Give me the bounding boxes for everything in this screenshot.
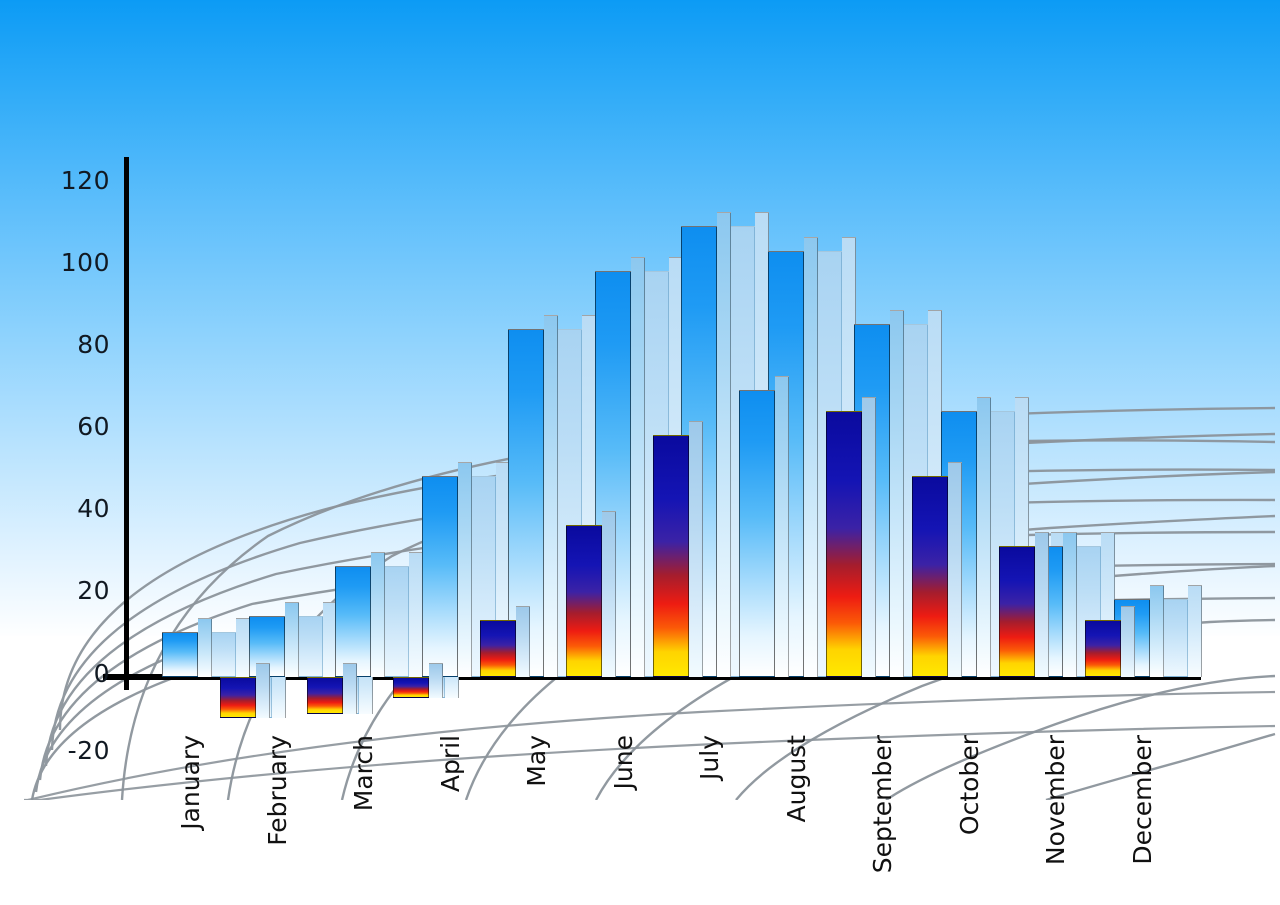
bar-side-face xyxy=(343,663,357,714)
bar-series2-august xyxy=(826,411,862,678)
bar-front-face xyxy=(162,632,198,677)
x-label-april: April xyxy=(436,735,465,792)
chart-canvas: 120 100 80 60 40 20 0 -20 JanuaryFebruar… xyxy=(0,0,1280,905)
bar-side-face xyxy=(775,376,789,677)
x-label-march: March xyxy=(349,735,378,811)
bar-front-face xyxy=(335,566,371,677)
bar-side-face xyxy=(1150,585,1164,677)
x-label-july: July xyxy=(695,735,724,780)
bar-series1-january xyxy=(162,632,198,677)
bar-series2-april xyxy=(480,620,516,677)
bar-front-face xyxy=(912,476,948,677)
bar-side-face xyxy=(516,606,530,677)
bar-series2-october xyxy=(999,546,1035,677)
plot-area: 120 100 80 60 40 20 0 -20 JanuaryFebruar… xyxy=(0,0,1280,905)
bar-side-face xyxy=(1063,532,1077,677)
bar-side-face xyxy=(890,310,904,677)
bar-series2-march xyxy=(393,677,429,698)
bar-series2-september xyxy=(912,476,948,677)
bar-side-face xyxy=(631,257,645,677)
bar-series2-may xyxy=(566,525,602,677)
x-label-may: May xyxy=(522,735,551,787)
bar-front-face xyxy=(826,411,862,678)
bar-front-face xyxy=(999,546,1035,677)
x-label-august: August xyxy=(782,735,811,823)
bar-side-face xyxy=(429,663,443,698)
bar-side-face xyxy=(1035,532,1049,677)
x-label-june: June xyxy=(609,735,638,789)
bar-side-face xyxy=(285,602,299,678)
bar-side-face xyxy=(948,462,962,677)
x-label-october: October xyxy=(955,735,984,835)
bar-side-face xyxy=(602,511,616,677)
bar-front-face xyxy=(739,390,775,677)
bar-side-face xyxy=(1121,606,1135,677)
bar-side-face xyxy=(977,397,991,678)
bar-side-face xyxy=(371,552,385,677)
bar-series1-march xyxy=(335,566,371,677)
bar-front-face xyxy=(307,677,343,714)
bar-series2-february xyxy=(307,677,343,714)
bar-front-face xyxy=(422,476,458,677)
bar-side-face xyxy=(544,315,558,678)
bar-front-face xyxy=(480,620,516,677)
bar-series1-april xyxy=(422,476,458,677)
x-label-february: February xyxy=(263,735,292,846)
bar-series2-july xyxy=(739,390,775,677)
x-label-september: September xyxy=(868,735,897,873)
bar-side-face xyxy=(862,397,876,678)
bar-side-face xyxy=(689,421,703,677)
x-label-november: November xyxy=(1041,735,1070,865)
bar-side-face xyxy=(717,212,731,677)
x-label-december: December xyxy=(1128,735,1157,865)
bar-front-face xyxy=(1085,620,1121,677)
bar-series2-june xyxy=(653,435,689,677)
bar-side-face xyxy=(198,618,212,677)
bar-front-face xyxy=(653,435,689,677)
bar-side-face xyxy=(256,663,270,718)
bar-series2-january xyxy=(220,677,256,718)
x-label-january: January xyxy=(176,735,205,830)
bar-front-face xyxy=(220,677,256,718)
bar-side-face xyxy=(458,462,472,677)
bar-side-face xyxy=(1188,585,1202,677)
bar-series2-november xyxy=(1085,620,1121,677)
bar-front-face xyxy=(566,525,602,677)
bar-side-face xyxy=(804,237,818,677)
bar-front-face xyxy=(393,677,429,698)
